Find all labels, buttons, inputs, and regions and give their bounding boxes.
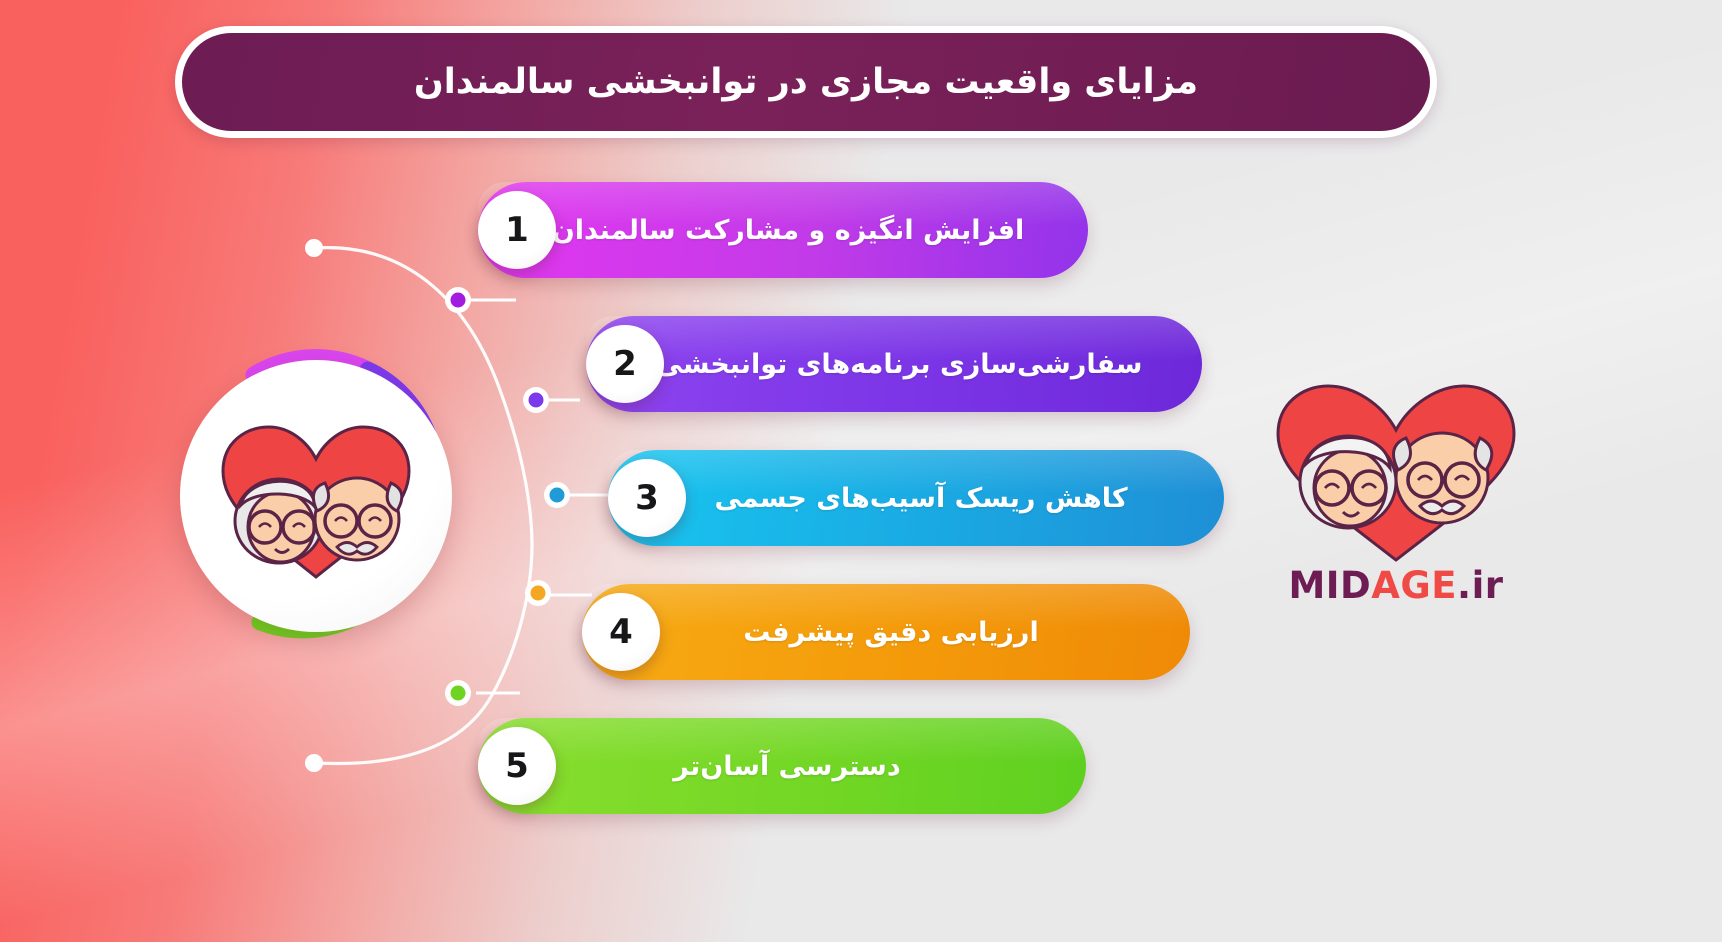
node-dot-2 (529, 393, 544, 408)
node-dot-5 (451, 686, 466, 701)
brand-age: AGE (1371, 564, 1457, 607)
brand-wordmark: MIDAGE.ir (1262, 564, 1530, 607)
brand-dot: . (1457, 564, 1472, 607)
benefit-row-5[interactable]: دسترسی آسان‌تر 5 (478, 718, 1086, 814)
page-title: مزایای واقعیت مجازی در توانبخشی سالمندان (388, 62, 1224, 102)
brand-heart-couple-icon (1262, 378, 1530, 563)
elderly-couple-heart-icon (209, 409, 424, 584)
benefit-number-4: 4 (609, 612, 633, 652)
benefit-bar-5[interactable]: دسترسی آسان‌تر (478, 718, 1086, 814)
benefit-badge-4[interactable]: 4 (582, 593, 660, 671)
benefit-label-5: دسترسی آسان‌تر (629, 751, 934, 782)
benefit-bar-3[interactable]: کاهش ریسک آسیب‌های جسمی (608, 450, 1224, 546)
benefit-label-2: سفارشی‌سازی برنامه‌های توانبخشی (612, 349, 1177, 380)
node-dot-3 (550, 488, 565, 503)
benefit-row-2[interactable]: سفارشی‌سازی برنامه‌های توانبخشی 2 (586, 316, 1202, 412)
benefit-label-3: کاهش ریسک آسیب‌های جسمی (670, 483, 1161, 514)
benefit-row-1[interactable]: افزایش انگیزه و مشارکت سالمندان 1 (478, 182, 1088, 278)
benefit-badge-5[interactable]: 5 (478, 727, 556, 805)
node-dot-1 (451, 293, 466, 308)
title-bar: مزایای واقعیت مجازی در توانبخشی سالمندان (182, 33, 1430, 131)
benefit-number-3: 3 (635, 478, 659, 518)
benefit-label-4: ارزیابی دقیق پیشرفت (699, 617, 1072, 648)
title-frame: مزایای واقعیت مجازی در توانبخشی سالمندان (175, 26, 1437, 138)
benefit-label-1: افزایش انگیزه و مشارکت سالمندان (508, 215, 1059, 246)
benefit-bar-4[interactable]: ارزیابی دقیق پیشرفت (582, 584, 1190, 680)
benefit-number-2: 2 (613, 344, 637, 384)
benefit-badge-3[interactable]: 3 (608, 459, 686, 537)
medallion (168, 330, 468, 660)
benefit-number-5: 5 (505, 746, 529, 786)
medallion-disc (180, 360, 452, 632)
infographic-canvas: مزایای واقعیت مجازی در توانبخشی سالمندان (0, 0, 1722, 942)
brand-mid: MID (1288, 564, 1371, 607)
node-dot-4 (531, 586, 546, 601)
benefit-bar-1[interactable]: افزایش انگیزه و مشارکت سالمندان (478, 182, 1088, 278)
benefit-bar-2[interactable]: سفارشی‌سازی برنامه‌های توانبخشی (586, 316, 1202, 412)
brand-logo: MIDAGE.ir (1262, 378, 1530, 610)
benefit-number-1: 1 (505, 210, 529, 250)
benefit-badge-2[interactable]: 2 (586, 325, 664, 403)
brand-ir: ir (1472, 564, 1504, 607)
benefit-row-3[interactable]: کاهش ریسک آسیب‌های جسمی 3 (608, 450, 1224, 546)
benefit-badge-1[interactable]: 1 (478, 191, 556, 269)
benefit-row-4[interactable]: ارزیابی دقیق پیشرفت 4 (582, 584, 1190, 680)
